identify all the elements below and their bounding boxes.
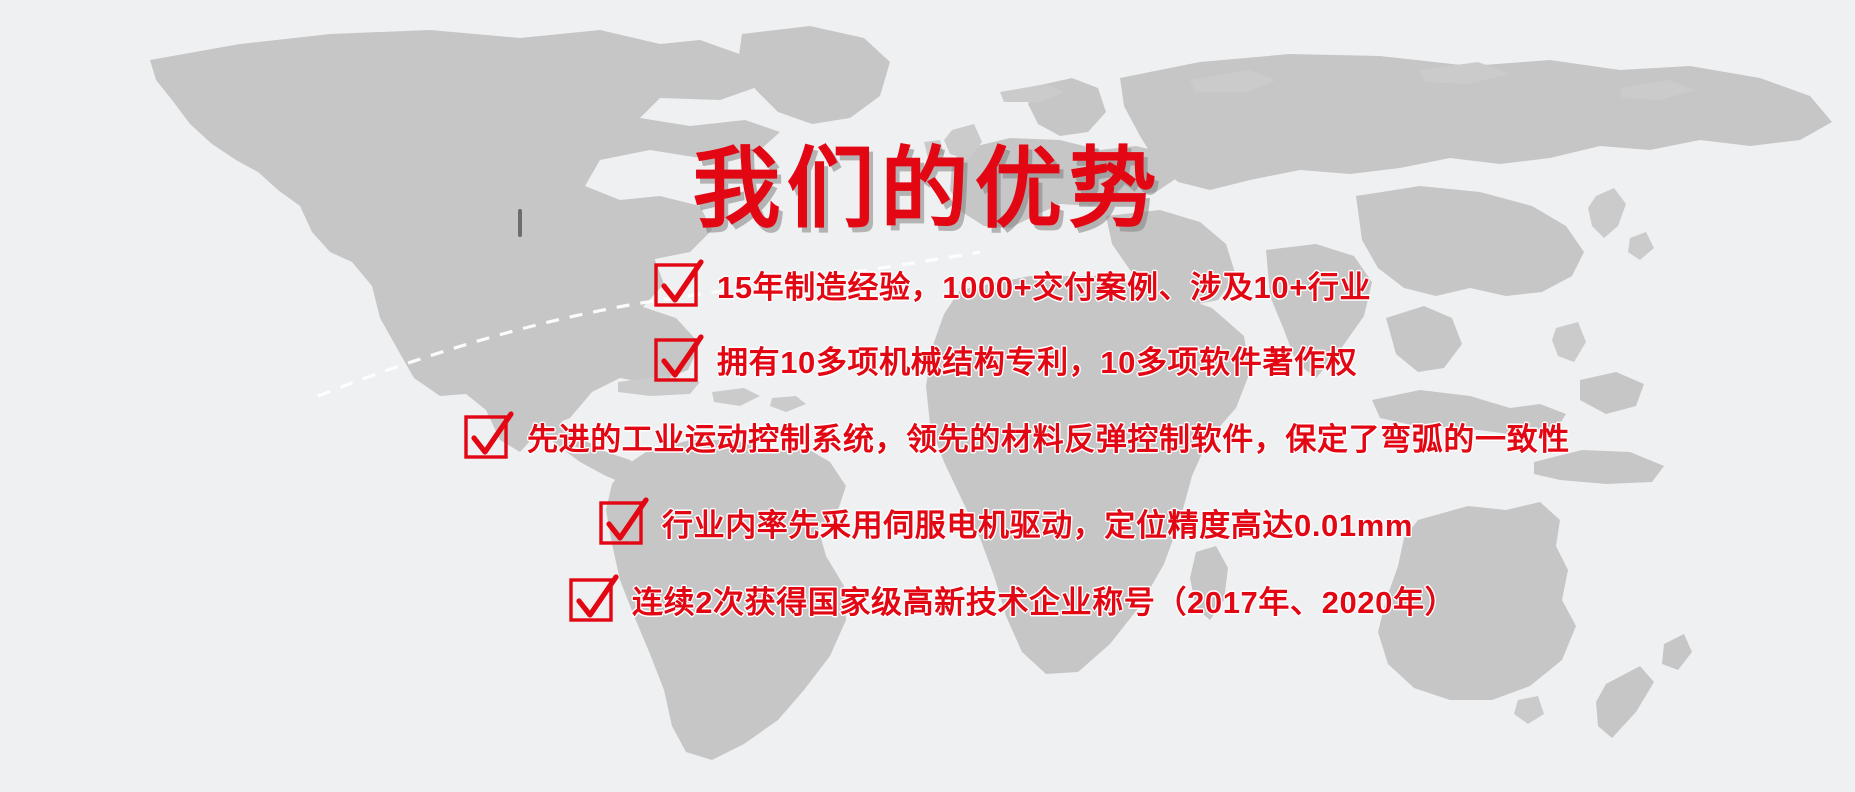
list-item-label: 先进的工业运动控制系统，领先的材料反弹控制软件，保定了弯弧的一致性 [527,414,1570,459]
advantages-banner: 我们的优势 15年制造经验，1000+交付案例、涉及10+行业 [0,0,1855,792]
list-item-label: 15年制造经验，1000+交付案例、涉及10+行业 [717,262,1371,307]
checkbox-checked-icon [600,501,644,545]
list-item-label: 拥有10多项机械结构专利，10多项软件著作权 [717,337,1357,382]
checkbox-checked-glyph [566,572,622,628]
checkbox-checked-icon [655,263,699,307]
list-item: 15年制造经验，1000+交付案例、涉及10+行业 [655,262,1371,307]
checkbox-checked-glyph [651,257,707,313]
checkbox-checked-glyph [596,495,652,551]
list-item-label: 连续2次获得国家级高新技术企业称号（2017年、2020年） [632,577,1456,622]
checkbox-checked-icon [465,415,509,459]
list-item: 先进的工业运动控制系统，领先的材料反弹控制软件，保定了弯弧的一致性 [465,414,1570,459]
banner-content: 我们的优势 15年制造经验，1000+交付案例、涉及10+行业 [0,0,1855,792]
page-title: 我们的优势 [0,145,1855,233]
checkbox-checked-icon [570,578,614,622]
list-item: 连续2次获得国家级高新技术企业称号（2017年、2020年） [570,577,1456,622]
checkbox-checked-icon [655,338,699,382]
checkbox-checked-glyph [461,409,517,465]
checkbox-checked-glyph [651,332,707,388]
list-item: 行业内率先采用伺服电机驱动，定位精度高达0.01mm [600,500,1413,545]
list-item: 拥有10多项机械结构专利，10多项软件著作权 [655,337,1357,382]
list-item-label: 行业内率先采用伺服电机驱动，定位精度高达0.01mm [662,500,1413,545]
